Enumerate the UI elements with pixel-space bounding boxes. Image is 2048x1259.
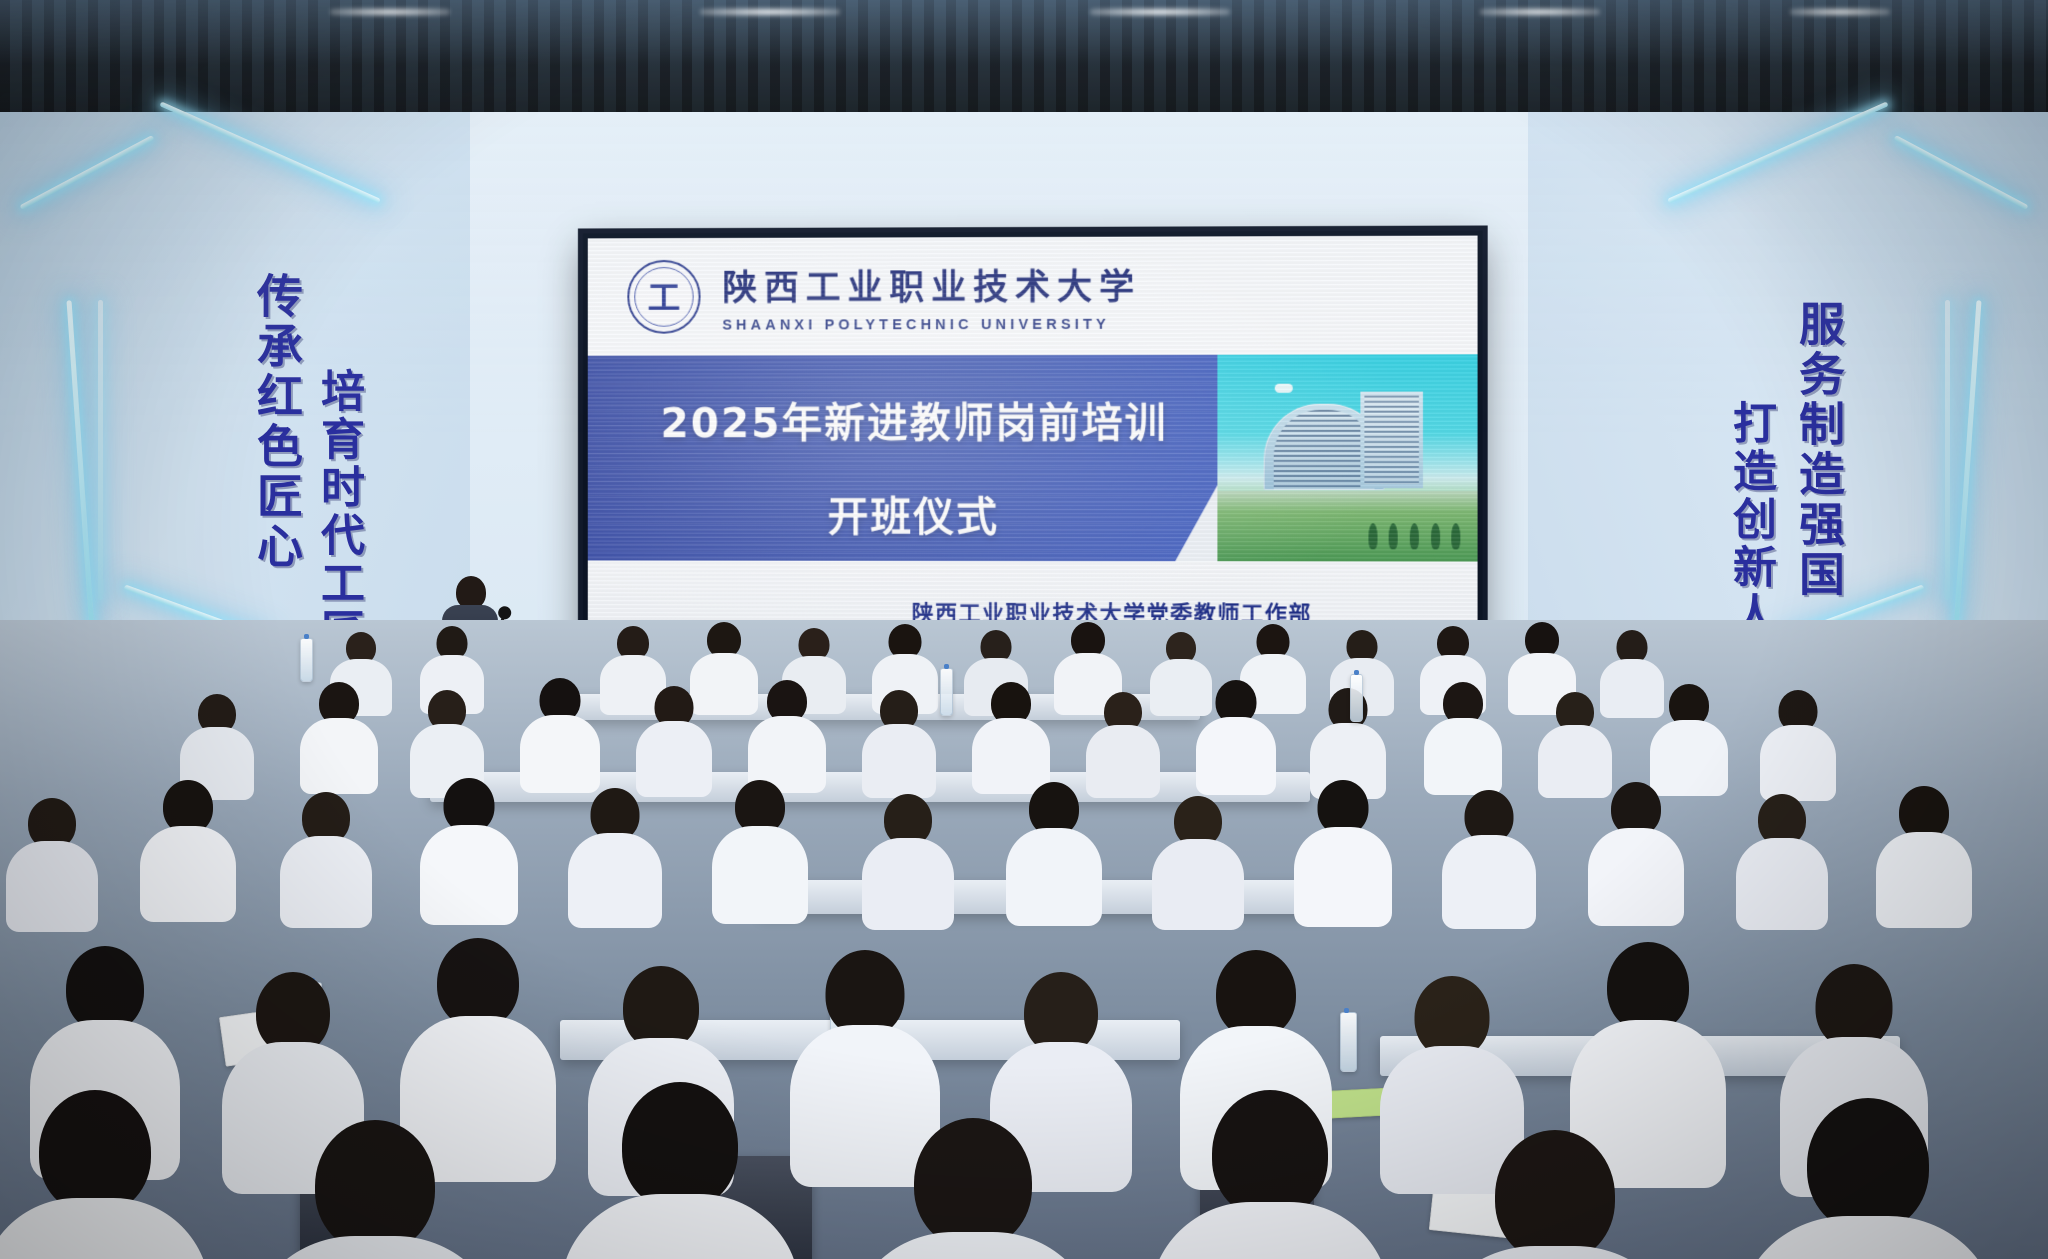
attendee-body — [712, 826, 808, 924]
attendee-body — [1430, 1246, 1680, 1259]
attendee-c14 — [6, 798, 98, 926]
attendee-body — [140, 826, 236, 922]
attendee-b7 — [972, 682, 1050, 790]
university-wordmark: 陕西工业职业技术大学 SHAANXI POLYTECHNIC UNIVERSIT… — [722, 259, 1141, 334]
attendee-b9 — [1196, 680, 1276, 792]
attendee-head — [914, 1118, 1032, 1248]
attendee-c2 — [280, 792, 372, 922]
attendee-body — [636, 721, 712, 797]
attendee-body — [6, 841, 98, 932]
water-bottle-c2 — [940, 668, 953, 716]
attendee-c9 — [1294, 780, 1392, 920]
attendee-head — [1607, 942, 1689, 1032]
attendee-c3 — [420, 778, 518, 918]
slide-title: 2025年新进教师岗前培训 — [635, 389, 1193, 449]
campus-tree-2 — [1389, 523, 1398, 549]
attendee-body — [1150, 1202, 1390, 1259]
attendee-head — [437, 938, 519, 1028]
attendee-body — [0, 1198, 210, 1259]
cloud-2 — [1274, 384, 1292, 393]
attendee-b5 — [748, 680, 826, 790]
attendee-c8 — [1152, 796, 1244, 924]
attendee-b6 — [862, 690, 936, 794]
attendee-front-4 — [850, 1118, 1096, 1259]
attendee-c7 — [1006, 782, 1102, 920]
attendee-b1 — [300, 682, 378, 790]
attendee-c4 — [568, 788, 662, 922]
attendee-front-3 — [560, 1082, 800, 1259]
campus-tower-building — [1360, 392, 1423, 489]
attendee-body — [1740, 1216, 1996, 1259]
campus-tree-4 — [1431, 523, 1440, 549]
attendee-c13 — [1876, 786, 1972, 922]
attendee-c12 — [1736, 794, 1828, 924]
attendee-body — [862, 724, 936, 798]
attendee-body — [300, 718, 378, 794]
attendee-b11 — [1424, 682, 1502, 792]
university-name-en: SHAANXI POLYTECHNIC UNIVERSITY — [722, 317, 1141, 334]
attendee-body — [850, 1232, 1096, 1259]
slide-subtitle: 开班仪式 — [635, 483, 1193, 543]
attendee-body — [1876, 832, 1972, 928]
attendee-head — [826, 950, 905, 1037]
campus-photo — [1217, 354, 1477, 561]
attendee-b15 — [1760, 690, 1836, 796]
audience-area — [0, 620, 2048, 1259]
attendee-front-5 — [1150, 1090, 1390, 1259]
university-seal-icon: 工 — [627, 260, 700, 334]
ceiling-light-1 — [330, 8, 450, 16]
neon-strip-left-4 — [98, 300, 103, 600]
attendee-body — [1588, 828, 1684, 926]
conference-hall-photo: 传承红色匠心 培育时代工匠 服务制造强国 打造创新人才 工 陕西工业职业技术大学… — [0, 0, 2048, 1259]
attendee-body — [1442, 835, 1536, 929]
attendee-c10 — [1442, 790, 1536, 922]
slide-title-group: 2025年新进教师岗前培训 开班仪式 — [635, 389, 1193, 543]
water-bottle-c3 — [1350, 674, 1363, 722]
attendee-b8 — [1086, 692, 1160, 794]
campus-tree-3 — [1410, 523, 1419, 549]
wall-calligraphy-right-1: 服务制造强国 — [1786, 300, 1852, 600]
attendee-c5 — [712, 780, 808, 918]
attendee-body — [250, 1236, 500, 1259]
attendee-body — [862, 838, 954, 930]
ceiling-light-4 — [1480, 8, 1600, 16]
attendee-b10 — [1310, 688, 1386, 794]
attendee-body — [1196, 717, 1276, 795]
water-bottle-d3 — [1340, 1012, 1357, 1072]
attendee-body — [520, 715, 600, 793]
ceiling-sheen — [0, 0, 2048, 118]
attendee-body — [1294, 827, 1392, 927]
seal-mark: 工 — [648, 280, 681, 313]
ceiling-light-3 — [1090, 8, 1230, 16]
wall-calligraphy-left-1: 传承红色匠心 — [244, 272, 310, 572]
slide-title-band: 2025年新进教师岗前培训 开班仪式 — [588, 354, 1478, 561]
attendee-body — [420, 825, 518, 925]
attendee-body — [1424, 718, 1502, 795]
attendee-front-2 — [250, 1120, 500, 1259]
ceiling-light-2 — [700, 8, 840, 16]
attendee-front-7 — [1740, 1098, 1996, 1259]
attendee-body — [280, 836, 372, 928]
attendee-b13 — [1650, 684, 1728, 792]
attendee-c1 — [140, 780, 236, 916]
campus-tree-1 — [1368, 523, 1377, 549]
university-name-cn: 陕西工业职业技术大学 — [722, 259, 1141, 311]
attendee-front-6 — [1430, 1130, 1680, 1259]
attendee-b12 — [1538, 692, 1612, 794]
attendee-head — [1495, 1130, 1615, 1259]
ceiling-light-5 — [1790, 8, 1890, 16]
campus-tree-5 — [1451, 523, 1460, 549]
slide-header: 工 陕西工业职业技术大学 SHAANXI POLYTECHNIC UNIVERS… — [588, 236, 1478, 356]
attendee-head — [1807, 1098, 1929, 1232]
attendee-head — [622, 1082, 738, 1210]
attendee-body — [1736, 838, 1828, 930]
attendee-b4 — [636, 686, 712, 792]
water-bottle-c1 — [300, 638, 313, 682]
attendee-body — [1152, 839, 1244, 930]
attendee-body — [1760, 725, 1836, 801]
attendee-head — [315, 1120, 435, 1252]
attendee-body — [560, 1194, 800, 1259]
attendee-b3 — [520, 678, 600, 790]
wall-calligraphy-left-2: 培育时代工匠 — [306, 368, 370, 656]
attendee-c6 — [862, 794, 954, 924]
attendee-head — [1216, 950, 1296, 1038]
attendee-c11 — [1588, 782, 1684, 920]
attendee-head — [39, 1090, 151, 1214]
neon-strip-right-4 — [1945, 300, 1950, 600]
attendee-body — [568, 833, 662, 928]
attendee-front-1 — [0, 1090, 210, 1259]
attendee-body — [1006, 828, 1102, 926]
attendee-head — [1212, 1090, 1328, 1218]
